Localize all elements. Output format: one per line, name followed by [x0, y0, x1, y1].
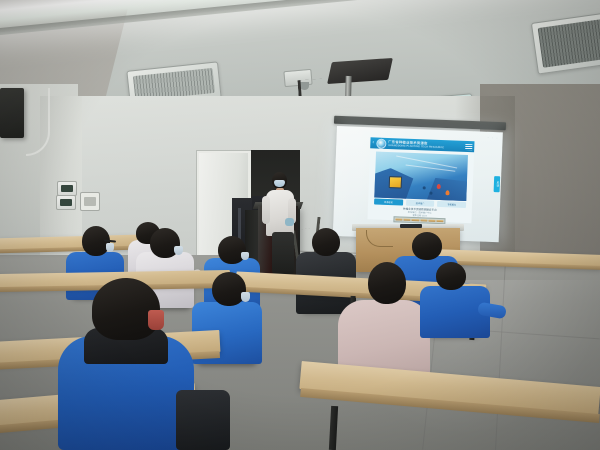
slide-tab[interactable]: 资源总览: [374, 198, 403, 205]
projected-slide: ‹ 广东省种植业技术资源库 GUANGDONG PLANTING TECH RE…: [367, 137, 474, 223]
remote-control-icon[interactable]: [400, 224, 422, 228]
organisation-logo-icon: [376, 138, 386, 148]
map-badge-icon: [389, 176, 402, 188]
slide-title: 广东省种植业技术资源库 GUANGDONG PLANTING TECH RESO…: [388, 140, 445, 149]
face-mask-icon: [106, 243, 114, 252]
face-mask-icon: [241, 292, 250, 302]
wall-switch-plate[interactable]: [57, 181, 77, 196]
map-landmass: [426, 177, 468, 201]
slide-feedback-tab[interactable]: 反馈: [494, 176, 501, 192]
map-pin-icon: [445, 190, 449, 195]
bag-icon: [176, 390, 230, 450]
wall-outlet-plate[interactable]: [80, 192, 100, 211]
face-mask-icon: [148, 310, 164, 330]
slide-tab[interactable]: 专家服务: [437, 201, 466, 208]
face-mask-icon: [174, 246, 183, 255]
map-landmass: [374, 167, 435, 201]
slide-corner-dots: · · ·: [487, 135, 498, 140]
map-pin-icon: [437, 184, 441, 189]
slide-subtitle-text: GUANGDONG PLANTING TECH RESOURCE: [388, 144, 444, 149]
menu-icon[interactable]: [465, 143, 472, 149]
wall-speaker-icon: [0, 88, 24, 138]
face-mask-icon: [241, 252, 249, 260]
slide-tab[interactable]: 技术推广: [406, 200, 435, 207]
wall-switch-plate[interactable]: [56, 195, 76, 210]
presenter-hand: [285, 218, 294, 226]
back-arrow-icon[interactable]: ‹: [372, 140, 374, 145]
presenter-trousers: [272, 232, 294, 274]
slide-hero-map: [374, 152, 468, 201]
training-room-photo: · · · ‹ 广东省种植业技术资源库 GUANGDONG PLANTING T…: [0, 0, 600, 450]
